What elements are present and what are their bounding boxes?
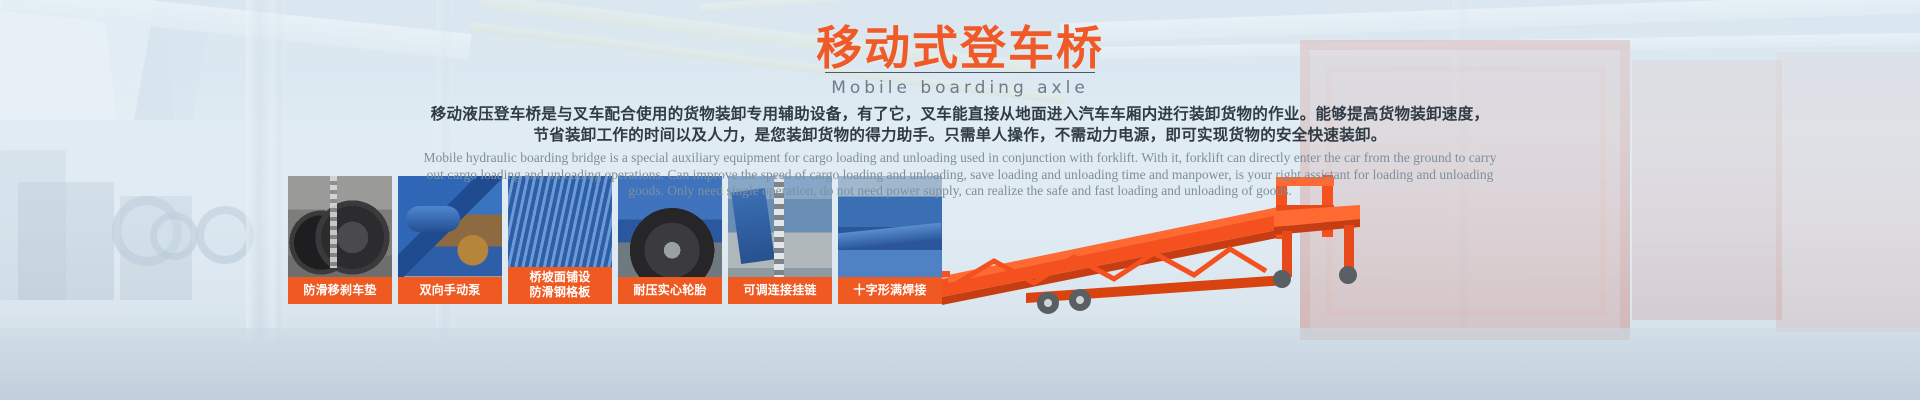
feature-caption-line: 防滑钢格板: [510, 285, 610, 300]
feature-caption: 十字形满焊接: [838, 277, 942, 304]
feature-caption: 可调连接挂链: [728, 277, 832, 304]
product-banner: 防滑移刹车垫 双向手动泵 桥坡面铺设 防滑钢格板 耐压实心轮胎 可调连接挂链 十…: [0, 0, 1920, 400]
description-en: Mobile hydraulic boarding bridge is a sp…: [420, 150, 1500, 200]
description-cn-line-1: 移动液压登车桥是与叉车配合使用的货物装卸专用辅助设备，有了它，叉车能直接从地面进…: [0, 104, 1920, 125]
banner-subtitle-wrap: Mobile boarding axle: [0, 72, 1920, 98]
feature-caption: 耐压实心轮胎: [618, 277, 722, 304]
banner-title-cn: 移动式登车桥: [0, 22, 1920, 75]
feature-caption: 防滑移刹车垫: [288, 277, 392, 304]
feature-caption: 桥坡面铺设 防滑钢格板: [508, 267, 612, 304]
feature-thumbnail-anti-skid-brake-pad[interactable]: 防滑移刹车垫: [288, 176, 392, 304]
banner-title-en: Mobile boarding axle: [831, 72, 1089, 98]
description-cn: 移动液压登车桥是与叉车配合使用的货物装卸专用辅助设备，有了它，叉车能直接从地面进…: [0, 104, 1920, 146]
feature-caption: 双向手动泵: [398, 277, 502, 304]
feature-caption-line: 桥坡面铺设: [510, 270, 610, 285]
description-cn-line-2: 节省装卸工作的时间以及人力，是您装卸货物的得力助手。只需单人操作，不需动力电源，…: [0, 125, 1920, 146]
